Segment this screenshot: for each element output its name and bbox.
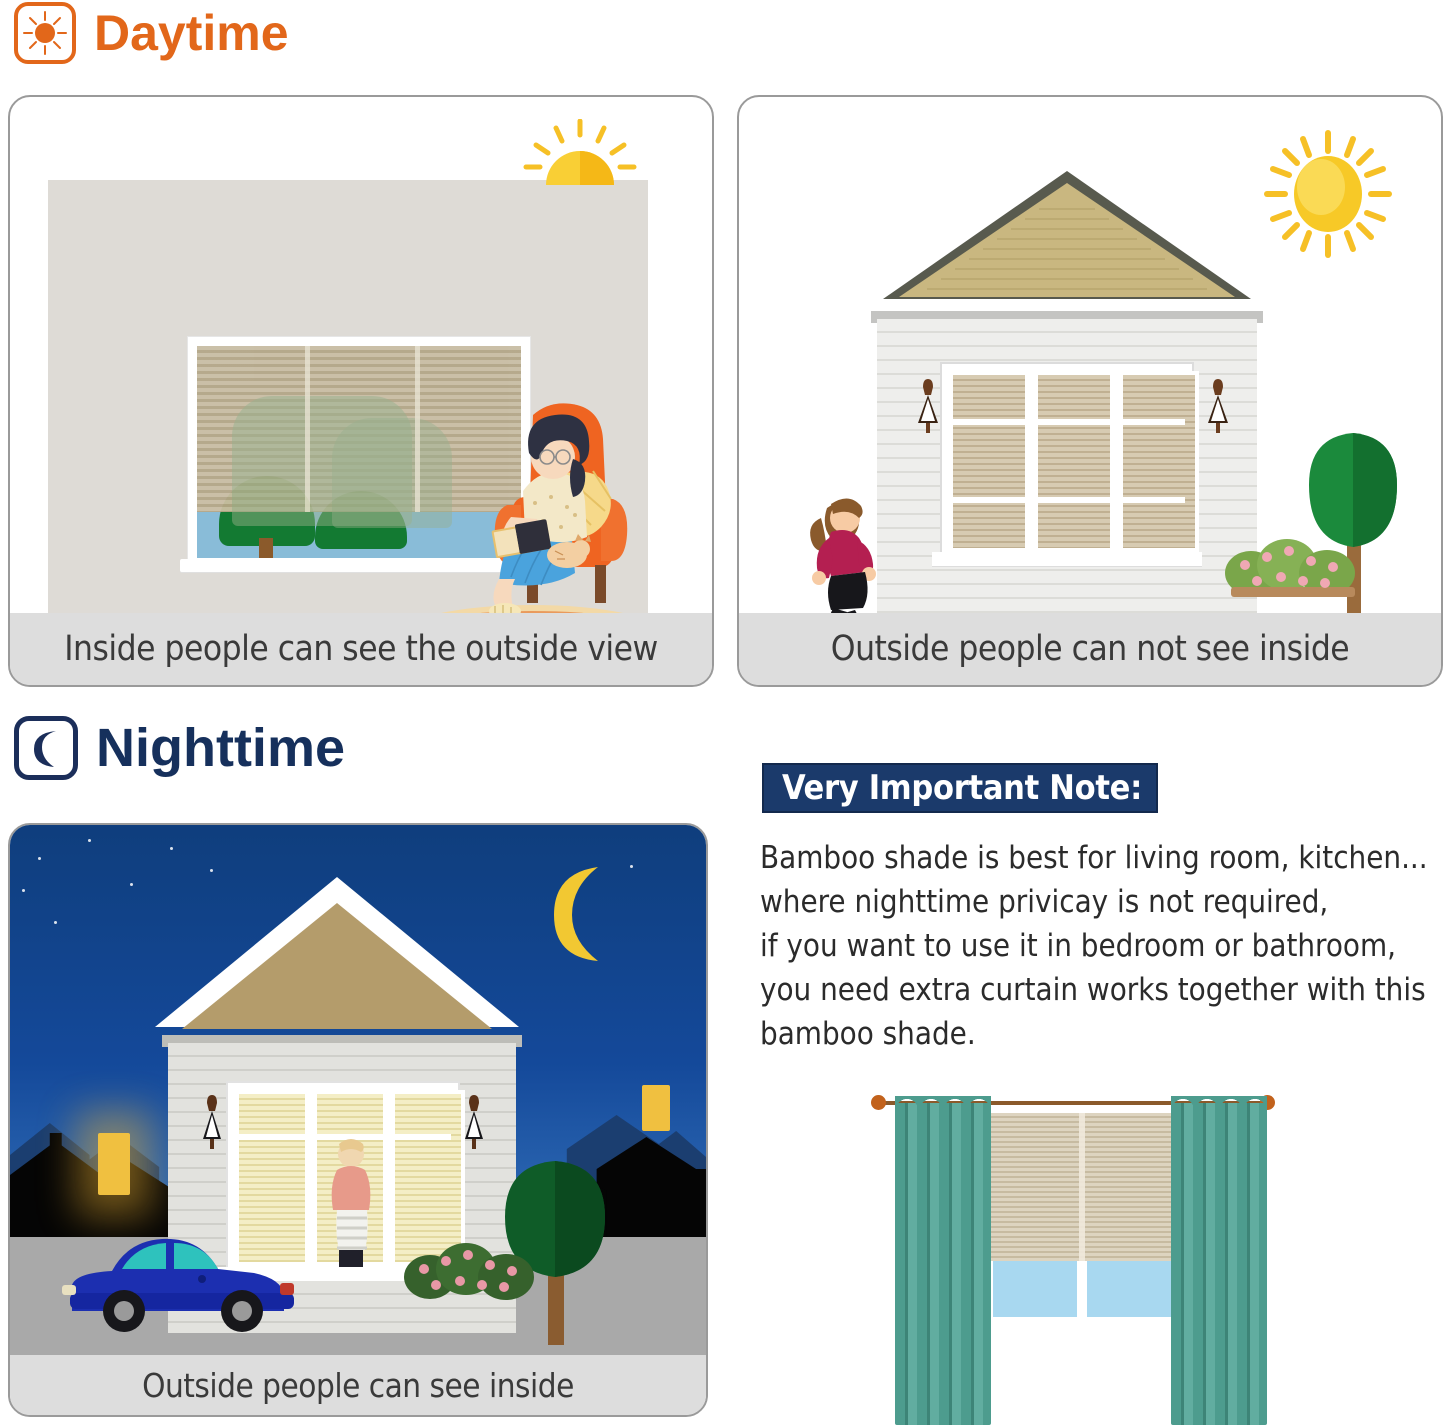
window-sill (987, 1317, 1181, 1325)
tree-trunk (259, 538, 273, 558)
caption-nighttime: Outside people can see inside (142, 1366, 574, 1405)
window-sill (932, 552, 1202, 566)
flower-bush (402, 1231, 542, 1303)
star (210, 869, 213, 872)
caption-bar: Outside people can not see inside (739, 613, 1441, 685)
wall-lamp-icon (462, 1093, 486, 1153)
window-glass (1087, 1261, 1175, 1317)
nighttime-title: Nighttime (96, 717, 345, 779)
daytime-title: Daytime (94, 4, 289, 62)
panel-inside-daytime: Inside people can see the outside view (8, 95, 714, 687)
window-pane (1034, 371, 1114, 552)
panel-outside-daytime: Outside people can not see inside (737, 95, 1443, 687)
sun-icon (14, 2, 76, 64)
window-glass (993, 1261, 1077, 1317)
note-line: where nighttime privicay is not required… (760, 880, 1445, 924)
note-line: bamboo shade. (760, 1012, 1445, 1056)
tree-shadow (332, 418, 452, 528)
crescent-moon-icon (540, 865, 618, 963)
star (130, 883, 133, 886)
rising-sun-icon (520, 119, 640, 189)
neighbor-lit-window (642, 1085, 670, 1131)
star (170, 847, 173, 850)
shade-center-seam (1079, 1113, 1085, 1261)
window-pane (1119, 371, 1199, 552)
caption-inside-daytime: Inside people can see the outside view (64, 629, 658, 669)
wall-lamp-icon (200, 1093, 224, 1153)
scene-outside-daytime (739, 97, 1441, 613)
important-note-badge: Very Important Note: (762, 763, 1158, 813)
caption-bar: Outside people can see inside (10, 1355, 706, 1415)
curtain-with-shade-illustration (855, 1075, 1275, 1425)
wall-lamp-icon (915, 377, 941, 439)
curtain-panel-right (1171, 1103, 1267, 1425)
wall-lamp-icon (1205, 377, 1231, 439)
jogging-woman (791, 492, 889, 613)
curtain-grommet-header (1171, 1096, 1267, 1110)
panel-nighttime: Outside people can see inside (8, 823, 708, 1417)
important-note-title: Very Important Note: (782, 768, 1142, 808)
star (54, 921, 57, 924)
important-note-body: Bamboo shade is best for living room, ki… (760, 836, 1445, 1056)
daytime-section-header: Daytime (14, 2, 289, 64)
house-roof (879, 167, 1255, 303)
flower-bush (1223, 527, 1363, 599)
star (88, 839, 91, 842)
curtain-grommet-header (895, 1096, 991, 1110)
house-roof (182, 903, 492, 1029)
caption-bar: Inside people can see the outside view (10, 613, 712, 685)
window-mullion (415, 346, 420, 512)
star (630, 865, 633, 868)
caption-outside-daytime: Outside people can not see inside (831, 629, 1349, 669)
window-mullion (305, 346, 310, 512)
window-with-bamboo-shade (991, 1105, 1177, 1321)
nighttime-section-header: Nighttime (14, 716, 345, 780)
exterior-window-with-shades (942, 364, 1192, 559)
window-pane (949, 371, 1029, 552)
note-line: Bamboo shade is best for living room, ki… (760, 836, 1445, 880)
curtain-rod-finial (871, 1095, 886, 1110)
person-silhouette-inside (315, 1134, 387, 1280)
curtain-panel-left (895, 1103, 991, 1425)
note-line: if you want to use it in bedroom or bath… (760, 924, 1445, 968)
neighbor-lit-window (98, 1133, 130, 1195)
woman-reading-in-armchair (455, 387, 640, 613)
sun-icon (1263, 129, 1393, 259)
scene-inside-daytime (10, 97, 712, 613)
star (38, 857, 41, 860)
window-rail (949, 419, 1185, 425)
parked-car (52, 1225, 312, 1335)
moon-icon (14, 716, 78, 780)
note-line: you need extra curtain works together wi… (760, 968, 1445, 1012)
star (22, 889, 25, 892)
scene-nighttime (10, 825, 706, 1355)
window-rail (949, 497, 1185, 503)
